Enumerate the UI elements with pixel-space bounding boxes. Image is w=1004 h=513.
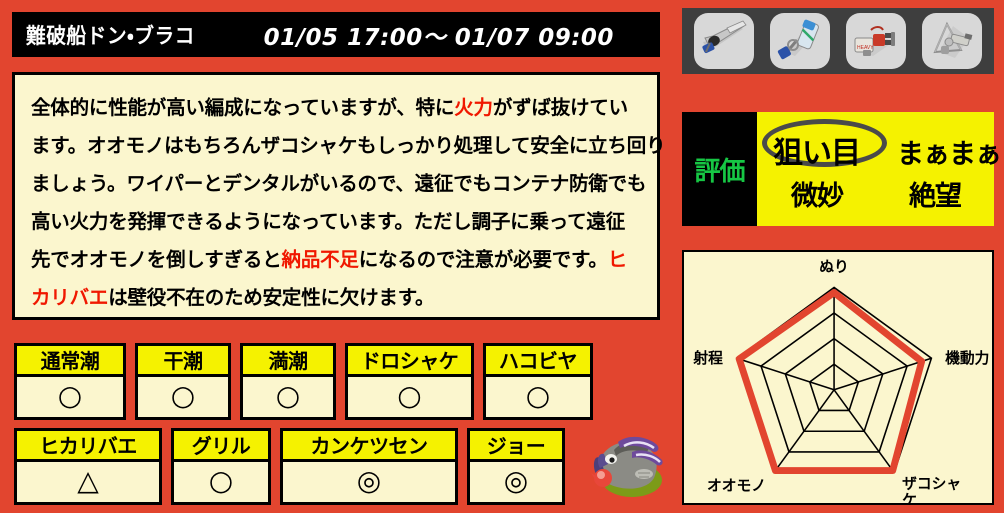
description-line: カリバエは壁役不在のため安定性に欠けます。 — [31, 279, 641, 317]
description-highlight: 納品不足 — [282, 248, 359, 271]
condition-badge-label: 満潮 — [243, 346, 333, 377]
charger-weapon-icon — [697, 16, 751, 66]
stage-schedule: 01/05 17:00～ 01/07 09:00 — [264, 18, 614, 52]
description-segment: がずば抜けてい — [493, 96, 628, 119]
condition-badge[interactable]: 干潮○ — [135, 343, 231, 420]
rating-option-neraime[interactable]: 狙い目 — [773, 128, 860, 172]
condition-badge-value: △ — [17, 462, 159, 502]
weapon-loadout-panel: HEAVY — [682, 8, 994, 74]
weapon-slot-2[interactable] — [770, 13, 830, 69]
description-line: 先でオオモノを倒しすぎると納品不足になるので注意が必要です。ヒ — [31, 241, 641, 279]
condition-badge-value: ◎ — [283, 462, 455, 502]
description-segment: ます。オオモノはもちろんザコシャケもしっかり処理して安全に立ち回り — [31, 134, 665, 157]
condition-badge-value: ○ — [348, 377, 471, 417]
condition-badge[interactable]: カンケツセン◎ — [280, 428, 458, 505]
condition-badge-label: カンケツセン — [283, 431, 455, 462]
condition-badge-label: 通常潮 — [17, 346, 123, 377]
description-text: 全体的に性能が高い編成になっていますが、特に火力がずば抜けています。オオモノはも… — [31, 89, 641, 317]
condition-badge-label: 干潮 — [138, 346, 228, 377]
condition-badge-value: ◎ — [470, 462, 562, 502]
condition-badge-label: ヒカリバエ — [17, 431, 159, 462]
condition-badge[interactable]: 通常潮○ — [14, 343, 126, 420]
condition-badge[interactable]: ジョー◎ — [467, 428, 565, 505]
condition-badge-label: グリル — [174, 431, 268, 462]
right-column: HEAVY — [674, 0, 1004, 513]
condition-badge-value: ○ — [486, 377, 590, 417]
description-segment: ましょう。ワイパーとデンタルがいるので、遠征でもコンテナ防衛でも — [31, 172, 646, 195]
salmonid-boss-joe-icon — [588, 428, 666, 504]
description-line: ます。オオモノはもちろんザコシャケもしっかり処理して安全に立ち回り — [31, 127, 641, 165]
rating-option-maamaa[interactable]: まぁまぁ — [897, 132, 1001, 171]
condition-badge[interactable]: グリル○ — [171, 428, 271, 505]
condition-badge[interactable]: ヒカリバエ△ — [14, 428, 162, 505]
page-root: 難破船ドン・ブラコ 01/05 17:00～ 01/07 09:00 全体的に性… — [0, 0, 1004, 513]
condition-badge[interactable]: ハコビヤ○ — [483, 343, 593, 420]
radar-axis-label: オオモノ — [707, 477, 766, 494]
rating-option-zetsubou[interactable]: 絶望 — [909, 174, 961, 213]
performance-radar-chart: ぬり機動力ザコシャケオオモノ射程 — [682, 250, 994, 505]
radar-axis-label: 射程 — [692, 349, 723, 367]
description-line: ましょう。ワイパーとデンタルがいるので、遠征でもコンテナ防衛でも — [31, 165, 641, 203]
rating-panel: 評価 狙い目 まぁまぁ 微妙 絶望 — [682, 112, 994, 226]
description-highlight: ヒ — [608, 248, 627, 271]
rating-label: 評価 — [694, 151, 744, 188]
condition-badge-value: ○ — [243, 377, 333, 417]
description-line: 高い火力を発揮できるようになっています。ただし調子に乗って遠征 — [31, 203, 641, 241]
condition-badge-value: ○ — [174, 462, 268, 502]
condition-badge-row-tide: 通常潮○干潮○満潮○ドロシャケ○ハコビヤ○ — [14, 343, 593, 420]
condition-badge-label: ドロシャケ — [348, 346, 471, 377]
description-segment: 先でオオモノを倒しすぎると — [31, 248, 282, 271]
condition-badge-label: ハコビヤ — [486, 346, 590, 377]
stage-header-bar: 難破船ドン・ブラコ 01/05 17:00～ 01/07 09:00 — [12, 12, 660, 57]
splatling-weapon-icon: HEAVY — [849, 16, 903, 66]
weapon-slot-1[interactable] — [694, 13, 754, 69]
description-highlight: カリバエ — [31, 286, 108, 309]
stringer-weapon-icon — [925, 16, 979, 66]
rating-option-bimyou[interactable]: 微妙 — [791, 174, 843, 213]
description-segment: 全体的に性能が高い編成になっていますが、特に — [31, 96, 454, 119]
dynamo-roller-weapon-icon — [773, 16, 827, 66]
description-segment: 高い火力を発揮できるようになっています。ただし調子に乗って遠征 — [31, 210, 625, 233]
left-column: 難破船ドン・ブラコ 01/05 17:00～ 01/07 09:00 全体的に性… — [0, 0, 674, 513]
weapon-slot-3[interactable]: HEAVY — [846, 13, 906, 69]
radar-axis-label: ぬり — [819, 259, 849, 276]
condition-badge[interactable]: ドロシャケ○ — [345, 343, 474, 420]
condition-badge-value: ○ — [138, 377, 228, 417]
description-line: 全体的に性能が高い編成になっていますが、特に火力がずば抜けてい — [31, 89, 641, 127]
description-segment: になるので注意が必要です。 — [359, 248, 608, 271]
condition-badge-row-events: ヒカリバエ△グリル○カンケツセン◎ジョー◎ — [14, 428, 565, 505]
description-panel: 全体的に性能が高い編成になっていますが、特に火力がずば抜けています。オオモノはも… — [12, 72, 660, 320]
description-segment: は壁役不在のため安定性に欠けます。 — [108, 286, 434, 309]
description-highlight: 火力 — [454, 96, 493, 119]
condition-badge-value: ○ — [17, 377, 123, 417]
condition-badge[interactable]: 満潮○ — [240, 343, 336, 420]
radar-axis-label: 機動力 — [945, 349, 989, 367]
weapon-slot-4[interactable] — [922, 13, 982, 69]
rating-label-box: 評価 — [682, 112, 757, 226]
stage-name: 難破船ドン・ブラコ — [26, 20, 195, 50]
rating-options: 狙い目 まぁまぁ 微妙 絶望 — [757, 112, 994, 226]
condition-badge-label: ジョー — [470, 431, 562, 462]
radar-axis-label: ザコシャケ — [902, 475, 961, 503]
